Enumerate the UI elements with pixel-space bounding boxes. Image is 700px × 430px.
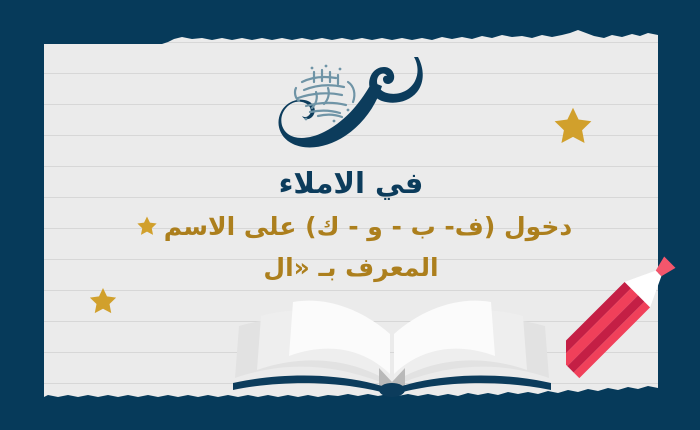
lesson-text-block: في الاملاء دخول (ف- ب - و - ك) على الاسم… [44,168,658,281]
arabic-language-daad-logo [268,52,432,160]
star-icon [88,286,118,316]
book-spine-knot [379,383,405,397]
star-icon [136,215,158,237]
star-icon [552,105,594,147]
logo-inner-calligraphy [295,70,354,117]
lesson-title-line-1-row: دخول (ف- ب - و - ك) على الاسم [44,214,658,240]
lesson-title-line-2: المعرف بـ «ال [44,255,658,281]
torn-edge-top [44,28,658,44]
open-book-illustration [227,290,557,400]
subject-heading: في الاملاء [44,168,658,198]
slide-canvas: في الاملاء دخول (ف- ب - و - ك) على الاسم… [0,0,700,430]
lesson-title-line-1: دخول (ف- ب - و - ك) على الاسم [164,212,572,241]
